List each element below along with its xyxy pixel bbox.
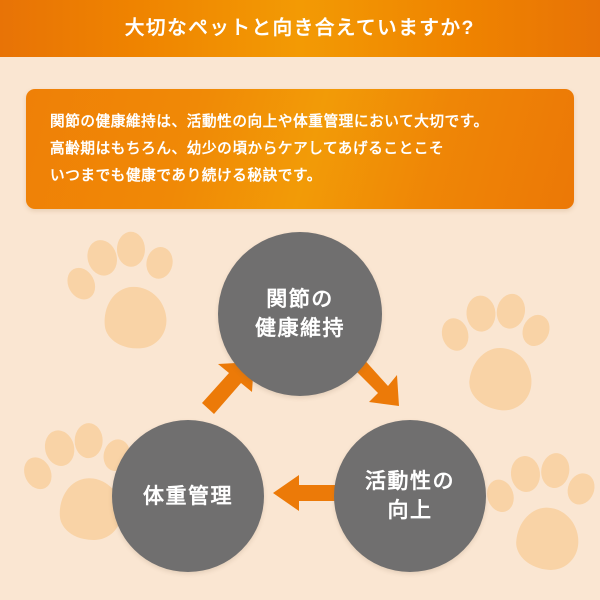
paw-toe-pad <box>74 423 103 458</box>
cycle-node-joint-health[interactable]: 関節の 健康維持 <box>218 232 382 396</box>
paw-main-pad <box>514 506 580 572</box>
cycle-node-label-line: 健康維持 <box>255 314 345 343</box>
header-banner: 大切なペットと向き合えていますか? <box>0 0 600 57</box>
page-title: 大切なペットと向き合えていますか? <box>125 19 475 39</box>
cycle-node-label-line: 体重管理 <box>143 482 233 511</box>
infographic-poster: 大切なペットと向き合えていますか? 関節の健康維持は、活動性の向上や体重管理にお… <box>0 0 600 600</box>
cycle-node-label-line: 向上 <box>388 496 433 525</box>
message-line-1: 関節の健康維持は、活動性の向上や体重管理において大切です。 <box>50 109 550 136</box>
paw-toe-pad <box>539 451 572 490</box>
paw-print-icon <box>56 227 189 369</box>
arrow-left-icon <box>273 473 337 513</box>
paw-toe-pad <box>117 232 146 267</box>
paw-print-icon <box>426 286 559 428</box>
paw-main-pad <box>101 284 169 352</box>
message-line-3: いつまでも健康であり続ける秘訣です。 <box>50 163 550 190</box>
paw-print-icon <box>474 448 600 586</box>
paw-toe-pad <box>509 455 542 494</box>
cycle-node-weight-management[interactable]: 体重管理 <box>112 420 264 572</box>
message-box: 関節の健康維持は、活動性の向上や体重管理において大切です。 高齢期はもちろん、幼… <box>26 89 574 209</box>
paw-toe-pad <box>465 295 496 333</box>
paw-toe-pad <box>143 245 175 282</box>
cycle-node-activity-improvement[interactable]: 活動性の 向上 <box>334 420 486 572</box>
paw-main-pad <box>467 345 535 413</box>
message-line-2: 高齢期はもちろん、幼少の頃からケアしてあげることこそ <box>50 136 550 163</box>
cycle-node-label-line: 活動性の <box>365 467 455 496</box>
cycle-node-label-line: 関節の <box>266 285 334 314</box>
